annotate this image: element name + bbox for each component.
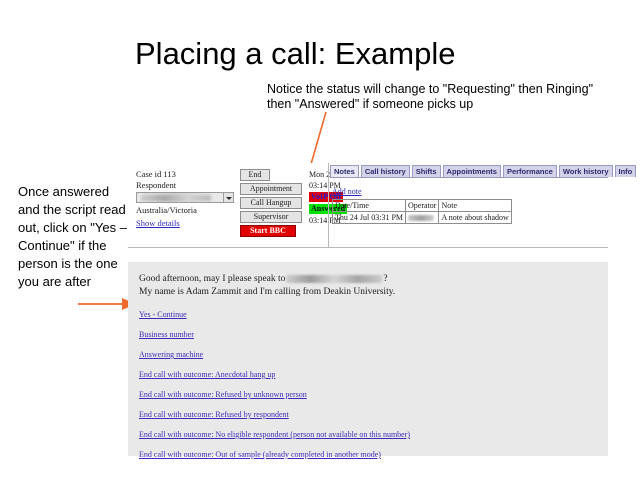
case-info-block: Case id 113 Respondent Australia/Victori…	[136, 169, 246, 229]
operator-redacted-value	[408, 215, 434, 221]
panel-divider	[328, 163, 329, 248]
add-note-link[interactable]: Add note	[332, 187, 362, 196]
callout-yes-continue-note: Once answered and the script read out, c…	[18, 183, 130, 291]
action-end-no-eligible-respondent[interactable]: End call with outcome: No eligible respo…	[139, 430, 608, 439]
notes-tab-body: Add note Date/Time Operator Note Thu 24 …	[330, 178, 608, 224]
col-note: Note	[439, 200, 511, 212]
timezone-label: Australia/Victoria	[136, 205, 246, 216]
action-end-out-of-sample[interactable]: End call with outcome: Out of sample (al…	[139, 450, 608, 459]
action-end-refused-respondent[interactable]: End call with outcome: Refused by respon…	[139, 410, 608, 419]
cell-datetime: Thu 24 Jul 03:31 PM	[333, 212, 406, 224]
script-line-1: Good afternoon, may I please speak to?	[139, 273, 608, 286]
respondent-label: Respondent	[136, 180, 246, 191]
respondent-name-redacted	[286, 275, 382, 283]
tab-call-history[interactable]: Call history	[361, 165, 410, 177]
appointment-button[interactable]: Appointment	[240, 183, 302, 195]
table-header-row: Date/Time Operator Note	[333, 200, 512, 212]
cell-operator	[406, 212, 439, 224]
col-datetime: Date/Time	[333, 200, 406, 212]
start-bbc-button[interactable]: Start BBC	[240, 225, 296, 237]
embedded-app-screenshot: Case id 113 Respondent Australia/Victori…	[128, 163, 608, 456]
script-line-1-after: ?	[383, 274, 387, 284]
table-row[interactable]: Thu 24 Jul 03:31 PM A note about shadow	[333, 212, 512, 224]
tab-panel: Notes Call history Shifts Appointments P…	[330, 165, 608, 247]
tab-strip: Notes Call history Shifts Appointments P…	[330, 165, 608, 178]
tab-shifts[interactable]: Shifts	[412, 165, 441, 177]
action-yes-continue[interactable]: Yes - Continue	[139, 310, 608, 319]
action-end-refused-unknown-person[interactable]: End call with outcome: Refused by unknow…	[139, 390, 608, 399]
supervisor-button[interactable]: Supervisor	[240, 211, 302, 223]
tab-work-history[interactable]: Work history	[559, 165, 613, 177]
action-answering-machine[interactable]: Answering machine	[139, 350, 608, 359]
case-id-label: Case id 113	[136, 169, 246, 180]
action-business-number[interactable]: Business number	[139, 330, 608, 339]
notes-table: Date/Time Operator Note Thu 24 Jul 03:31…	[332, 199, 512, 224]
tab-info[interactable]: Info	[615, 165, 637, 177]
tab-notes[interactable]: Notes	[330, 165, 359, 177]
respondent-redacted-value	[141, 195, 211, 201]
col-operator: Operator	[406, 200, 439, 212]
call-script-panel: Good afternoon, may I please speak to? M…	[128, 262, 608, 456]
show-details-link[interactable]: Show details	[136, 218, 246, 229]
cell-note: A note about shadow	[439, 212, 511, 224]
tab-appointments[interactable]: Appointments	[443, 165, 501, 177]
call-hangup-button[interactable]: Call Hangup	[240, 197, 302, 209]
script-line-2: My name is Adam Zammit and I'm calling f…	[139, 286, 608, 299]
call-action-buttons: End Appointment Call Hangup Supervisor S…	[240, 169, 304, 239]
script-line-1-before: Good afternoon, may I please speak to	[139, 274, 285, 284]
action-end-anecdotal-hangup[interactable]: End call with outcome: Anecdotal hang up	[139, 370, 608, 379]
page-title: Placing a call: Example	[135, 36, 456, 72]
script-action-links: Yes - Continue Business number Answering…	[139, 310, 608, 459]
respondent-select[interactable]	[136, 192, 234, 203]
end-button[interactable]: End	[240, 169, 270, 181]
chevron-down-icon[interactable]	[223, 193, 233, 202]
callout-status-note: Notice the status will change to "Reques…	[267, 82, 607, 112]
app-header-panel: Case id 113 Respondent Australia/Victori…	[128, 163, 608, 248]
tab-performance[interactable]: Performance	[503, 165, 557, 177]
